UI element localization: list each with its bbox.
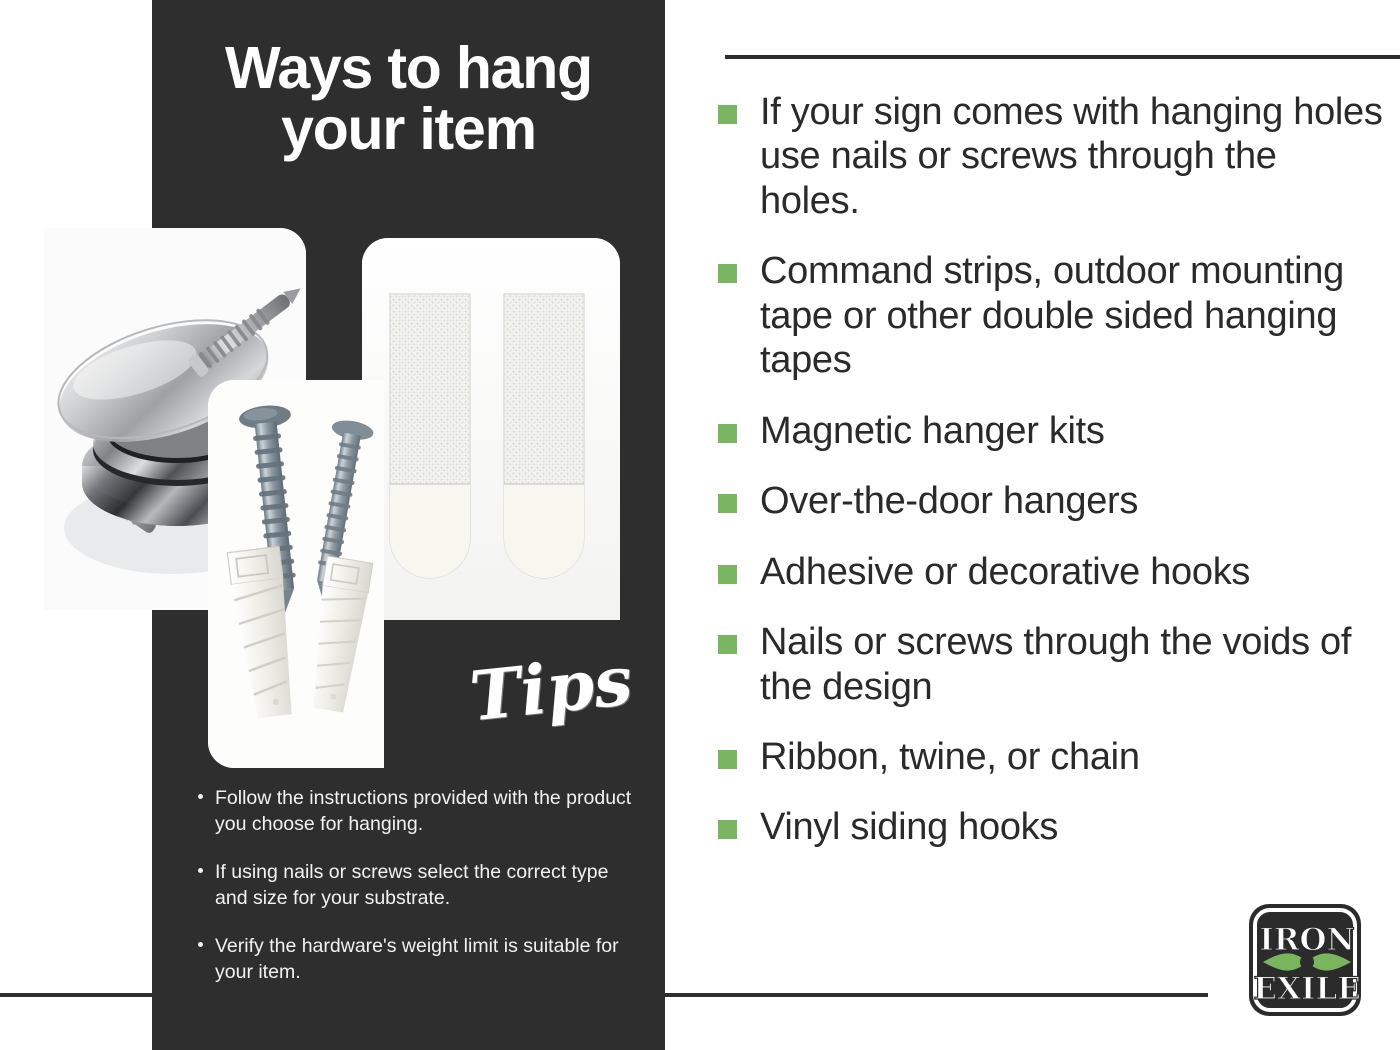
infographic-poster: Ways to hang your item — [0, 0, 1400, 1050]
bullet-square-icon — [718, 565, 737, 584]
method-text: Over-the-door hangers — [760, 480, 1138, 522]
drywall-anchors-photo — [208, 380, 384, 768]
page-title-line-2: your item — [164, 99, 653, 160]
method-text: Adhesive or decorative hooks — [760, 551, 1250, 593]
method-text: If your sign comes with hanging holes us… — [760, 91, 1383, 222]
list-item: Nails or screws through the voids of the… — [712, 620, 1384, 709]
tip-text: If using nails or screws select the corr… — [215, 861, 608, 909]
method-text: Command strips, outdoor mounting tape or… — [760, 250, 1344, 381]
tips-list: Follow the instructions provided with th… — [196, 786, 636, 986]
iron-exile-logo: IRON EXILE — [1243, 898, 1371, 1026]
page-title-line-1: Ways to hang — [164, 38, 653, 99]
bullet-dot-icon — [198, 942, 203, 947]
list-item: Vinyl siding hooks — [712, 805, 1384, 849]
list-item: Magnetic hanger kits — [712, 409, 1384, 453]
logo-line-2: EXILE — [1253, 971, 1361, 1007]
list-item: Verify the hardware's weight limit is su… — [196, 934, 636, 986]
bullet-square-icon — [718, 750, 737, 769]
list-item: Command strips, outdoor mounting tape or… — [712, 249, 1384, 382]
bullet-square-icon — [718, 424, 737, 443]
bullet-dot-icon — [198, 794, 203, 799]
tips-heading: Tips — [467, 647, 635, 732]
list-item: Follow the instructions provided with th… — [196, 786, 636, 838]
adhesive-strips-photo — [362, 238, 620, 620]
hanging-strips-illustration — [362, 238, 620, 620]
bullet-square-icon — [718, 105, 737, 124]
list-item: If your sign comes with hanging holes us… — [712, 90, 1384, 223]
tip-text: Follow the instructions provided with th… — [215, 787, 631, 835]
anchors-screws-illustration — [208, 380, 384, 768]
hanging-methods-list: If your sign comes with hanging holes us… — [712, 90, 1384, 850]
list-item: Adhesive or decorative hooks — [712, 550, 1384, 594]
list-item: Over-the-door hangers — [712, 479, 1384, 523]
list-item: Ribbon, twine, or chain — [712, 735, 1384, 779]
tip-text: Verify the hardware's weight limit is su… — [215, 935, 619, 983]
page-title: Ways to hang your item — [152, 38, 665, 161]
bullet-dot-icon — [198, 868, 203, 873]
divider-bottom — [663, 993, 1208, 997]
bullet-square-icon — [718, 494, 737, 513]
bullet-square-icon — [718, 820, 737, 839]
method-text: Magnetic hanger kits — [760, 410, 1105, 452]
divider-bottom-left — [0, 993, 152, 997]
logo-badge-icon: IRON EXILE — [1243, 898, 1371, 1026]
bullet-square-icon — [718, 264, 737, 283]
list-item: If using nails or screws select the corr… — [196, 860, 636, 912]
method-text: Vinyl siding hooks — [760, 806, 1058, 848]
method-text: Ribbon, twine, or chain — [760, 736, 1140, 778]
method-text: Nails or screws through the voids of the… — [760, 621, 1351, 707]
divider-top — [725, 55, 1400, 59]
bullet-square-icon — [718, 635, 737, 654]
logo-line-1: IRON — [1259, 922, 1355, 958]
